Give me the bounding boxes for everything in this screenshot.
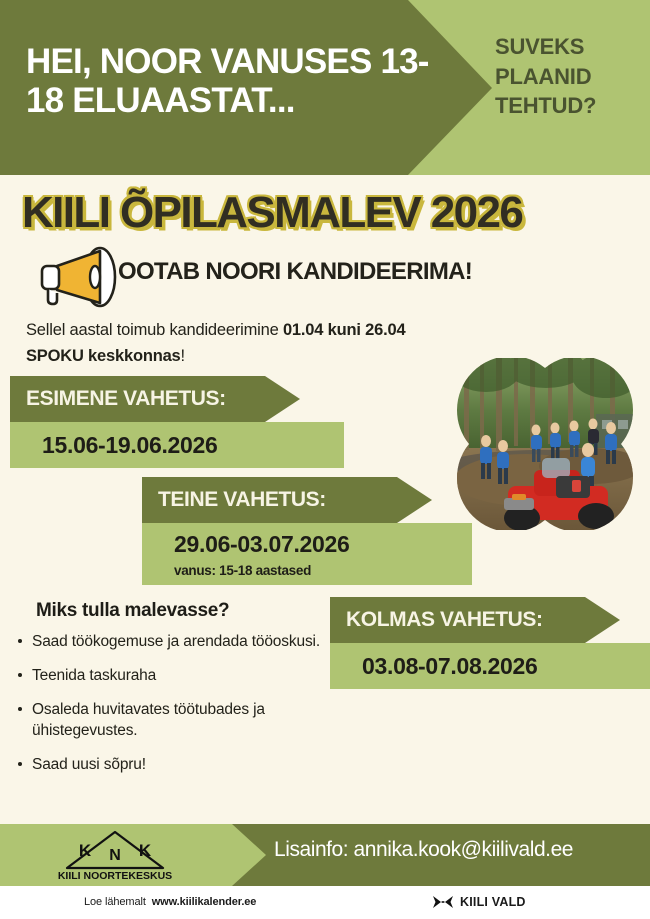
readmore-url[interactable]: www.kiilikalender.ee [152,896,257,908]
header-kicker: SUVEKS PLAANID TEHTUD? [495,32,645,121]
list-item: Osaleda huvitavates töötubades ja ühiste… [12,700,330,742]
shift-2-label: TEINE VAHETUS: [142,477,448,523]
page-title: KIILI ÕPILASMALEV 2026 [22,188,642,238]
shift-1-dates: 15.06-19.06.2026 [42,432,344,459]
shift-1-label: ESIMENE VAHETUS: [10,376,316,422]
shift-1-dates-block: 15.06-19.06.2026 [10,422,344,468]
shift-3-label: KOLMAS VAHETUS: [330,597,636,643]
shift-3-dates-block: 03.08-07.08.2026 [330,643,650,689]
header-headline: HEI, NOOR VANUSES 13-18 ELUAASTAT... [26,42,446,120]
shift-2-age-note: vanus: 15-18 aastased [174,563,472,578]
shift-3-dates: 03.08-07.08.2026 [362,653,650,680]
list-item: Saad töökogemuse ja arendada tööoskusi. [12,632,330,653]
shift-2-dates-block: 29.06-03.07.2026 vanus: 15-18 aastased [142,523,472,585]
list-item: Teenida taskuraha [12,666,330,687]
svg-text:K: K [139,841,152,860]
svg-text:N: N [109,847,121,864]
shift-2-dates: 29.06-03.07.2026 [174,531,472,558]
benefits-list: Saad töökogemuse ja arendada tööoskusi. … [12,632,330,789]
kiili-noortekeskus-logo: K N K KIILI NOORTEKESKUS [55,828,175,882]
poster: HEI, NOOR VANUSES 13-18 ELUAASTAT... SUV… [0,0,650,919]
photo-collage [456,358,634,530]
svg-text:K: K [79,841,92,860]
benefits-title: Miks tulla malevasse? [36,600,229,622]
intro-place: SPOKU keskkonnas [26,347,181,365]
kiili-vald-arrows-icon [432,894,454,910]
intro-text-1: Sellel aastal toimub kandideerimine [26,321,283,339]
megaphone-icon [24,246,122,308]
list-item: Saad uusi sõpru! [12,755,330,776]
intro-text-3: ! [181,347,185,365]
kiili-vald-logo: KIILI VALD [432,894,526,910]
kiili-vald-label: KIILI VALD [460,895,526,909]
readmore-label: Loe lähemalt [84,896,146,908]
contact-email[interactable]: Lisainfo: annika.kook@kiilivald.ee [274,838,573,862]
header-banner: HEI, NOOR VANUSES 13-18 ELUAASTAT... SUV… [0,0,650,175]
intro-dates: 01.04 kuni 26.04 [283,321,405,339]
subtitle: OOTAB NOORI KANDIDEERIMA! [118,258,472,286]
svg-text:KIILI NOORTEKESKUS: KIILI NOORTEKESKUS [58,870,172,882]
readmore-line: Loe lähemalt www.kiilikalender.ee [84,896,256,908]
intro-paragraph: Sellel aastal toimub kandideerimine 01.0… [26,318,446,369]
